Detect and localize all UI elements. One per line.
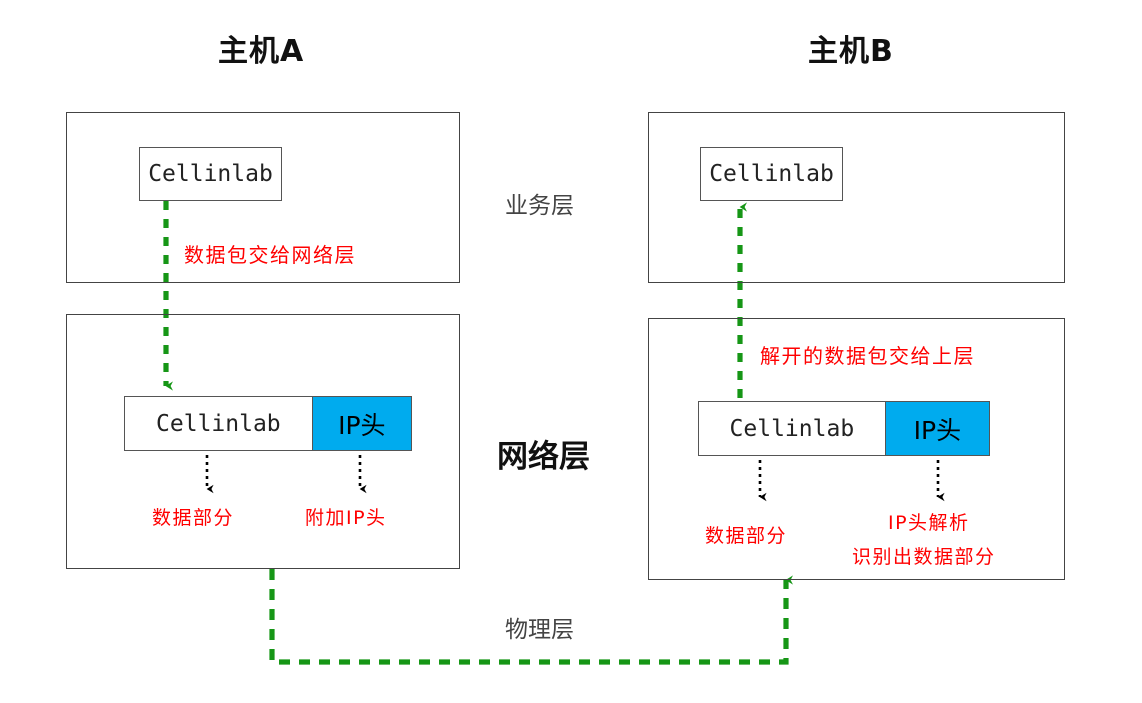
right-app-box: Cellinlab (700, 147, 843, 201)
right-header-note-line2: 识别出数据部分 (852, 542, 996, 569)
layer-label-business: 业务层 (505, 186, 574, 220)
left-app-box: Cellinlab (139, 147, 282, 201)
left-app-box-label: Cellinlab (148, 161, 273, 187)
layer-label-network: 网络层 (497, 431, 590, 476)
diagram-canvas: 主机A 主机B 业务层 网络层 物理层 Cellinlab 数据包交给网络层 C… (0, 0, 1142, 703)
host-b-title: 主机B (808, 26, 894, 70)
right-flow-annotation: 解开的数据包交给上层 (760, 340, 975, 369)
left-payload-note: 数据部分 (152, 503, 234, 530)
right-packet: Cellinlab IP头 (698, 401, 990, 456)
right-packet-payload: Cellinlab (699, 402, 885, 455)
right-packet-ip-header: IP头 (885, 402, 989, 455)
right-app-box-label: Cellinlab (709, 161, 834, 187)
right-payload-note: 数据部分 (705, 521, 787, 548)
left-packet: Cellinlab IP头 (124, 396, 412, 451)
left-flow-annotation: 数据包交给网络层 (184, 239, 356, 268)
left-packet-ip-header: IP头 (312, 397, 411, 450)
layer-label-physical: 物理层 (505, 610, 574, 644)
host-a-title: 主机A (218, 26, 304, 70)
right-header-note-line1: IP头解析 (888, 508, 970, 535)
left-packet-payload: Cellinlab (125, 397, 312, 450)
left-header-note: 附加IP头 (305, 503, 387, 530)
